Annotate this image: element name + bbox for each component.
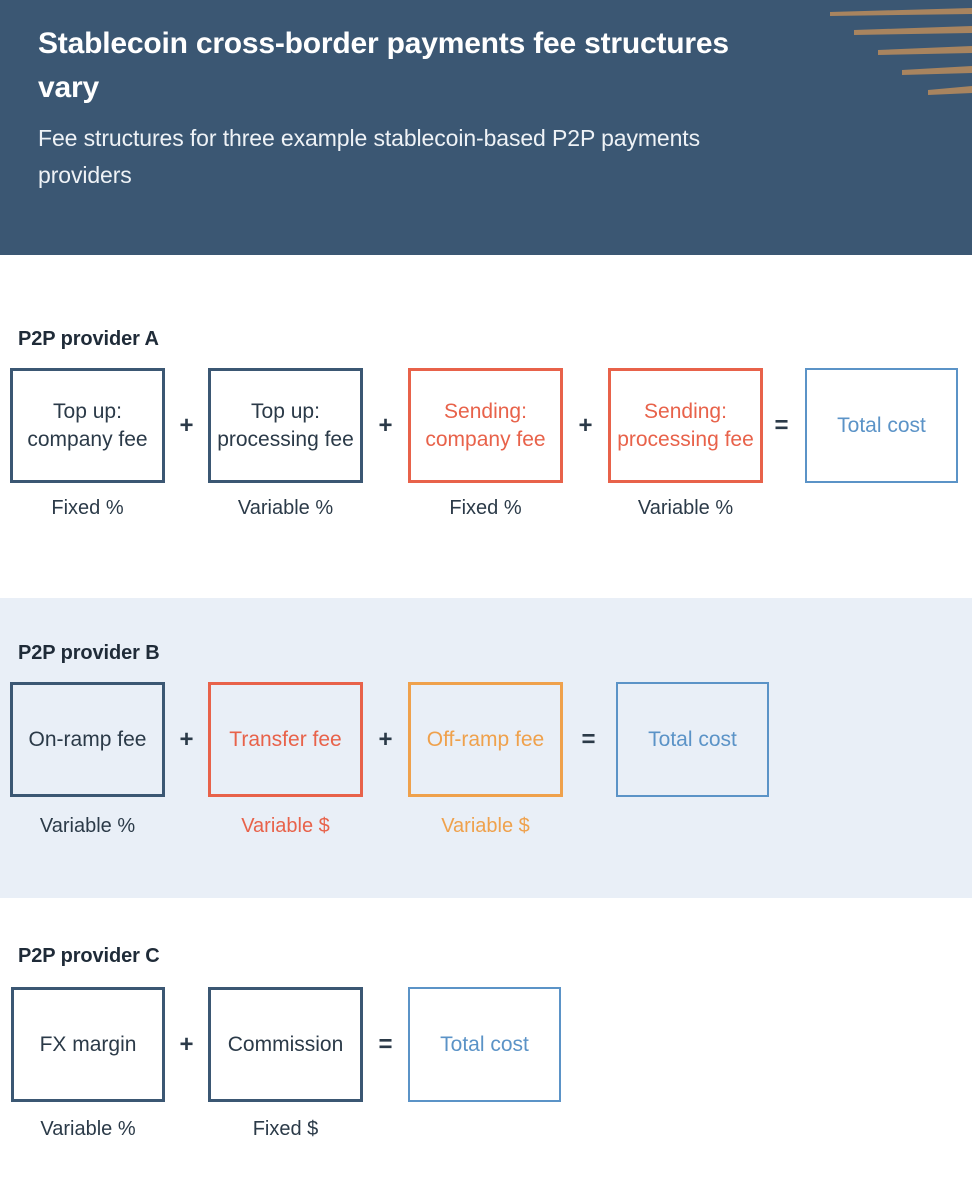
fee-box: Top up: company fee (10, 368, 165, 483)
fee-box: Transfer fee (208, 682, 363, 797)
fee-box: FX margin (11, 987, 165, 1102)
fee-box: Sending: company fee (408, 368, 563, 483)
fee-type-caption: Variable $ (208, 813, 363, 839)
total-cost-box: Total cost (805, 368, 958, 483)
fee-type-caption: Fixed % (10, 495, 165, 521)
provider-label: P2P provider C (18, 945, 160, 968)
plus-operator: + (363, 412, 408, 440)
equals-operator: = (363, 1031, 408, 1059)
total-cost-box: Total cost (616, 682, 769, 797)
equals-operator: = (561, 726, 616, 754)
total-cost-box: Total cost (408, 987, 561, 1102)
fee-type-caption: Variable $ (408, 813, 563, 839)
fee-box: On-ramp fee (10, 682, 165, 797)
provider-label: P2P provider B (18, 642, 160, 665)
equals-operator: = (758, 412, 805, 440)
fee-box: Sending: processing fee (608, 368, 763, 483)
fee-type-caption: Fixed % (408, 495, 563, 521)
provider-section-a: P2P provider ATop up: company fee+Fixed … (0, 255, 972, 598)
fee-type-caption: Variable % (10, 813, 165, 839)
fee-type-caption: Variable % (208, 495, 363, 521)
tapered-lines-decoration-icon (812, 0, 972, 110)
fee-box: Off-ramp fee (408, 682, 563, 797)
plus-operator: + (563, 412, 608, 440)
plus-operator: + (165, 726, 208, 754)
fee-type-caption: Variable % (608, 495, 763, 521)
fee-box: Commission (208, 987, 363, 1102)
page-subtitle: Fee structures for three example stablec… (38, 120, 758, 195)
plus-operator: + (363, 726, 408, 754)
fee-box: Top up: processing fee (208, 368, 363, 483)
provider-label: P2P provider A (18, 328, 159, 351)
plus-operator: + (165, 412, 208, 440)
plus-operator: + (165, 1031, 208, 1059)
fee-type-caption: Fixed $ (208, 1116, 363, 1142)
page-header: Stablecoin cross-border payments fee str… (0, 0, 972, 255)
page-title: Stablecoin cross-border payments fee str… (38, 22, 738, 110)
fee-type-caption: Variable % (11, 1116, 165, 1142)
provider-section-c: P2P provider CFX margin+Variable %Commis… (0, 898, 972, 1191)
provider-section-b: P2P provider BOn-ramp fee+Variable %Tran… (0, 598, 972, 898)
